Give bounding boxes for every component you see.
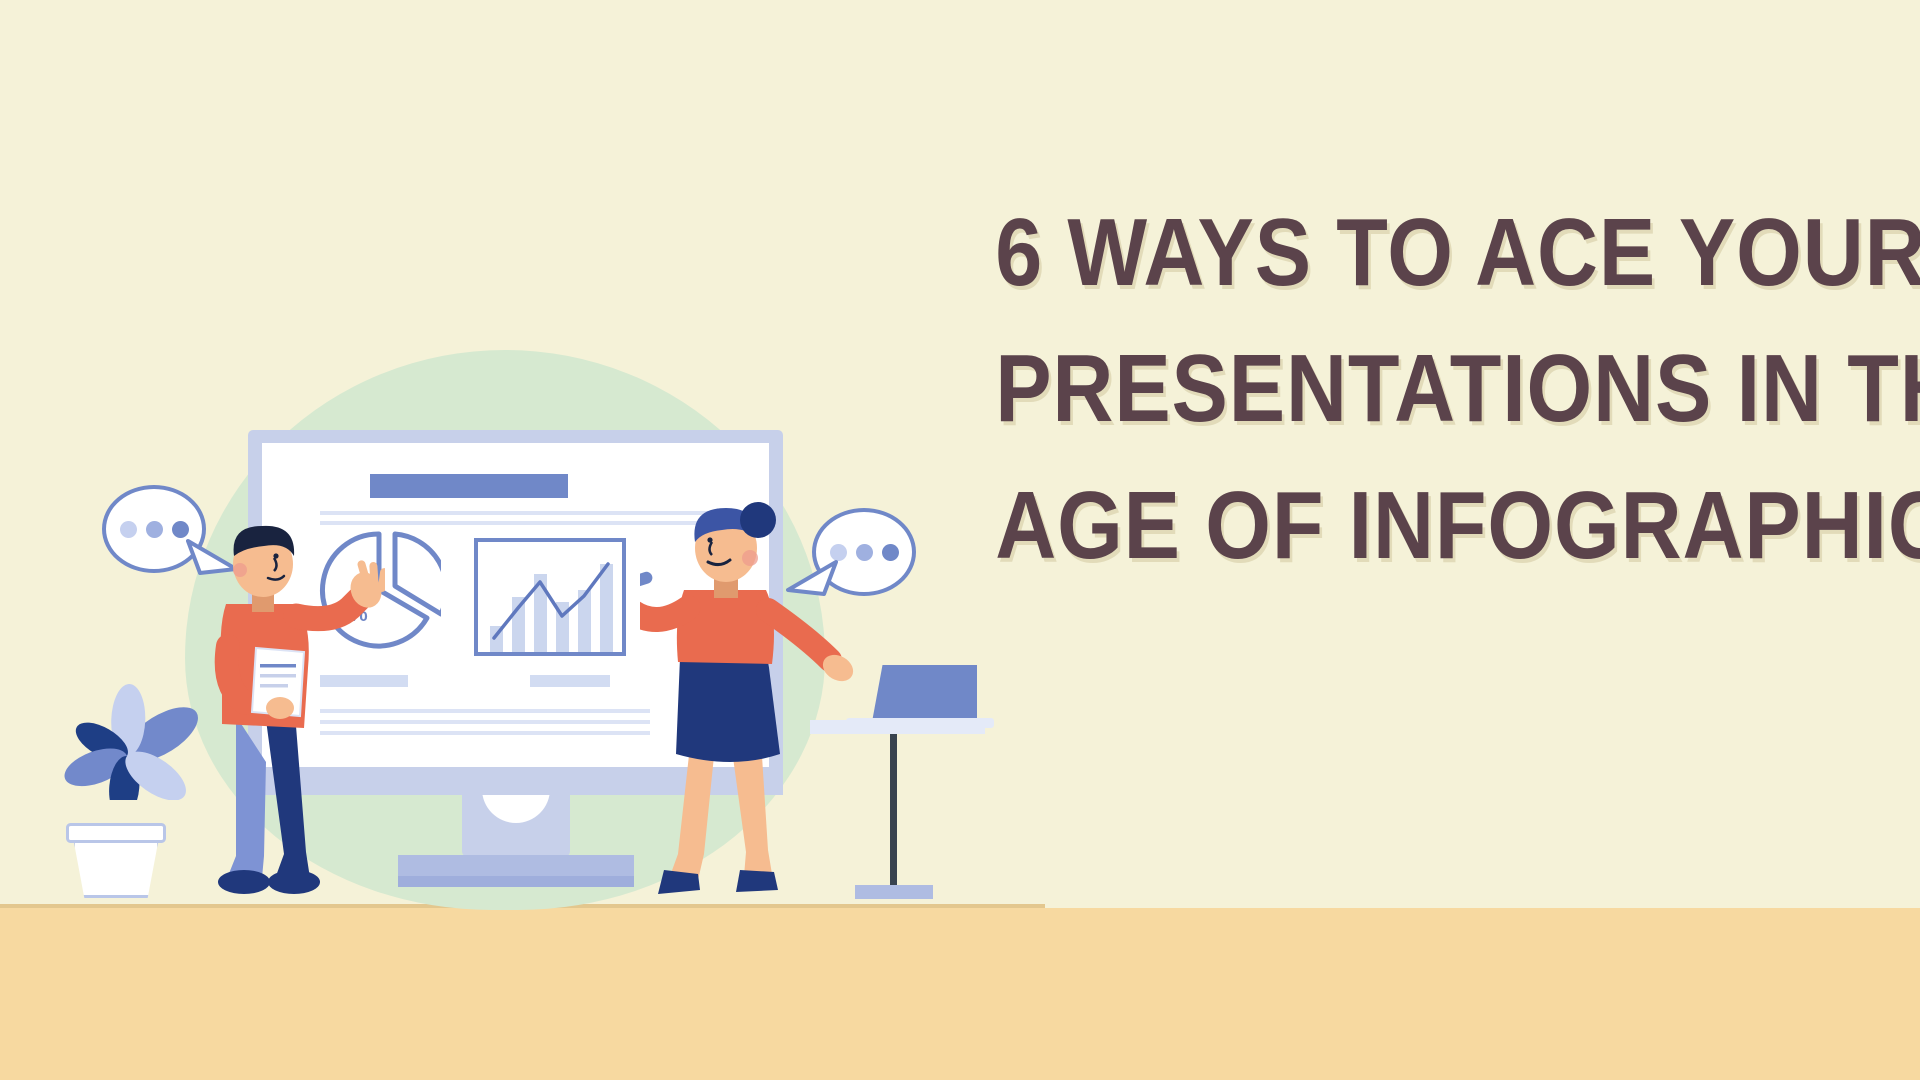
woman-hair-bun [740,502,776,538]
man-right-shoe [268,870,320,894]
man-cheek [233,563,247,577]
monitor-stand-base-shadow [398,876,634,887]
woman-right-arm [768,610,830,660]
slide-title-bar [370,474,568,498]
man-eye [273,553,278,558]
potted-plant [52,660,192,790]
man-right-leg [266,720,310,878]
man-raised-arm [296,596,362,619]
woman-left-leg [670,746,714,880]
side-table-leg [890,730,897,895]
woman-pointing-arm [640,608,688,620]
caption-block [530,675,610,687]
title-line-1: 6 WAYS TO ACE YOUR [995,185,1805,321]
laptop-base [846,718,994,728]
woman-skirt [676,658,780,762]
woman-presenter [640,498,860,913]
bubble-dot [120,521,137,538]
bar-chart [474,538,626,656]
bubble-dot [146,521,163,538]
trend-line [478,542,622,652]
plant-leaves-icon [52,660,202,800]
title-line-2: PRESENTATIONS IN THE [995,321,1805,457]
man-hand-on-paper [266,697,294,719]
side-table-foot [855,885,933,899]
poster-canvas: 6 WAYS TO ACE YOUR PRESENTATIONS IN THE … [0,0,1920,1080]
woman-eye [707,537,712,542]
woman-cheek [742,550,758,566]
woman-right-shoe [736,870,778,892]
floor-band [0,908,1920,1080]
plant-pot-rim-outline [66,823,166,843]
woman-left-shoe [658,870,700,894]
page-title: 6 WAYS TO ACE YOUR PRESENTATIONS IN THE … [940,185,1860,594]
title-line-3: AGE OF INFOGRAPHICS [995,458,1805,594]
bubble-dot [882,544,899,561]
pointer-stick [640,570,654,606]
man-left-leg [228,716,266,878]
woman-right-leg [732,750,772,876]
man-left-shoe [218,870,270,894]
laptop-screen [872,665,977,722]
man-presenter [200,520,385,910]
